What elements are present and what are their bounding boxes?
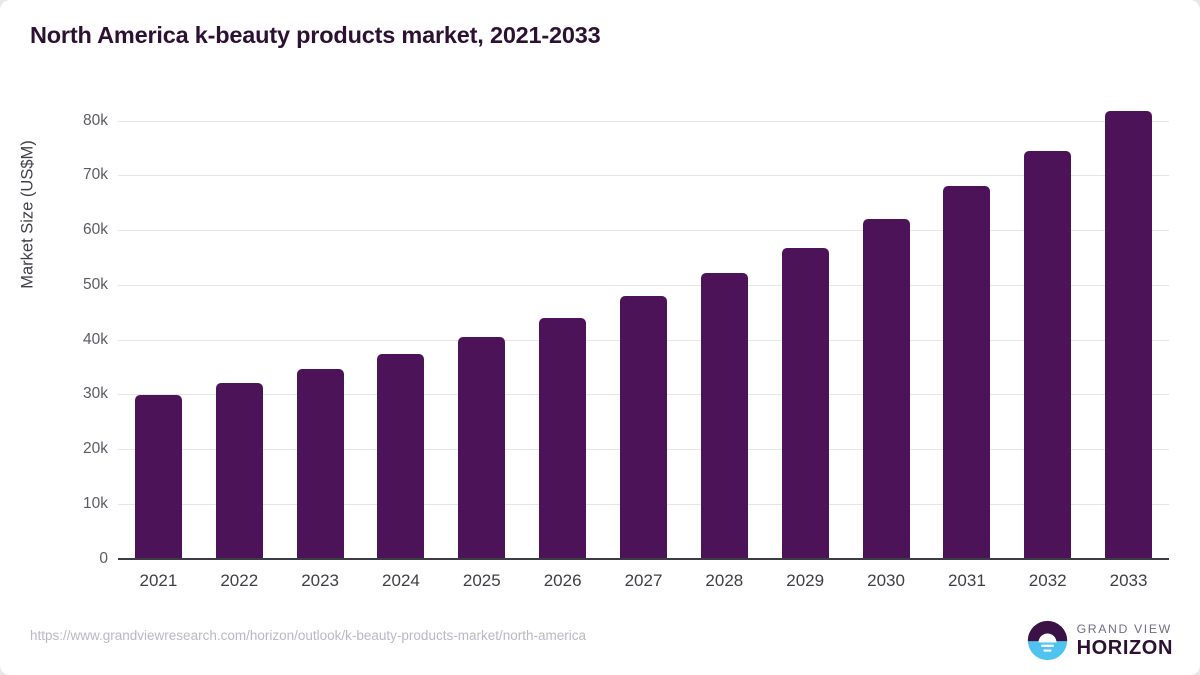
bar[interactable] <box>1024 151 1071 559</box>
y-tick-label: 80k <box>28 112 108 130</box>
x-tick-label: 2025 <box>442 571 522 591</box>
bar[interactable] <box>297 369 344 558</box>
y-tick-label: 70k <box>28 166 108 184</box>
bar[interactable] <box>782 248 829 559</box>
y-axis-label: Market Size (US$M) <box>19 5 38 425</box>
source-url[interactable]: https://www.grandviewresearch.com/horizo… <box>30 628 586 643</box>
x-tick-label: 2032 <box>1008 571 1088 591</box>
y-tick-label: 40k <box>28 331 108 349</box>
x-tick-label: 2023 <box>280 571 360 591</box>
x-tick-label: 2022 <box>199 571 279 591</box>
gridline <box>118 175 1169 176</box>
x-tick-label: 2024 <box>361 571 441 591</box>
bar[interactable] <box>216 383 263 558</box>
y-tick-label: 10k <box>28 495 108 513</box>
x-tick-label: 2033 <box>1089 571 1169 591</box>
bar[interactable] <box>1105 111 1152 559</box>
brand-logo: GRAND VIEW HORIZON <box>1027 620 1173 661</box>
logo-bottom-text: HORIZON <box>1077 638 1173 658</box>
x-tick-label: 2027 <box>604 571 684 591</box>
x-tick-label: 2031 <box>927 571 1007 591</box>
page-title: North America k-beauty products market, … <box>30 22 601 49</box>
bar[interactable] <box>701 273 748 558</box>
bar[interactable] <box>943 186 990 558</box>
chart-page: North America k-beauty products market, … <box>0 0 1200 675</box>
gridline <box>118 121 1169 122</box>
horizon-sunrise-icon <box>1027 620 1068 661</box>
y-tick-label: 0 <box>28 550 108 568</box>
bar[interactable] <box>458 337 505 559</box>
y-tick-label: 60k <box>28 221 108 239</box>
bar[interactable] <box>539 318 586 559</box>
x-tick-label: 2021 <box>118 571 198 591</box>
y-tick-label: 50k <box>28 276 108 294</box>
bar[interactable] <box>377 354 424 559</box>
x-tick-label: 2026 <box>523 571 603 591</box>
logo-top-text: GRAND VIEW <box>1077 623 1173 635</box>
y-tick-label: 20k <box>28 440 108 458</box>
x-axis-line <box>118 558 1169 560</box>
bar[interactable] <box>135 395 182 559</box>
x-tick-label: 2029 <box>765 571 845 591</box>
gridline <box>118 230 1169 231</box>
y-tick-label: 30k <box>28 385 108 403</box>
x-tick-label: 2030 <box>846 571 926 591</box>
plot-area <box>118 121 1169 559</box>
bar[interactable] <box>863 219 910 559</box>
logo-wordmark: GRAND VIEW HORIZON <box>1077 623 1173 658</box>
bar[interactable] <box>620 296 667 559</box>
x-tick-label: 2028 <box>684 571 764 591</box>
gridline <box>118 285 1169 286</box>
